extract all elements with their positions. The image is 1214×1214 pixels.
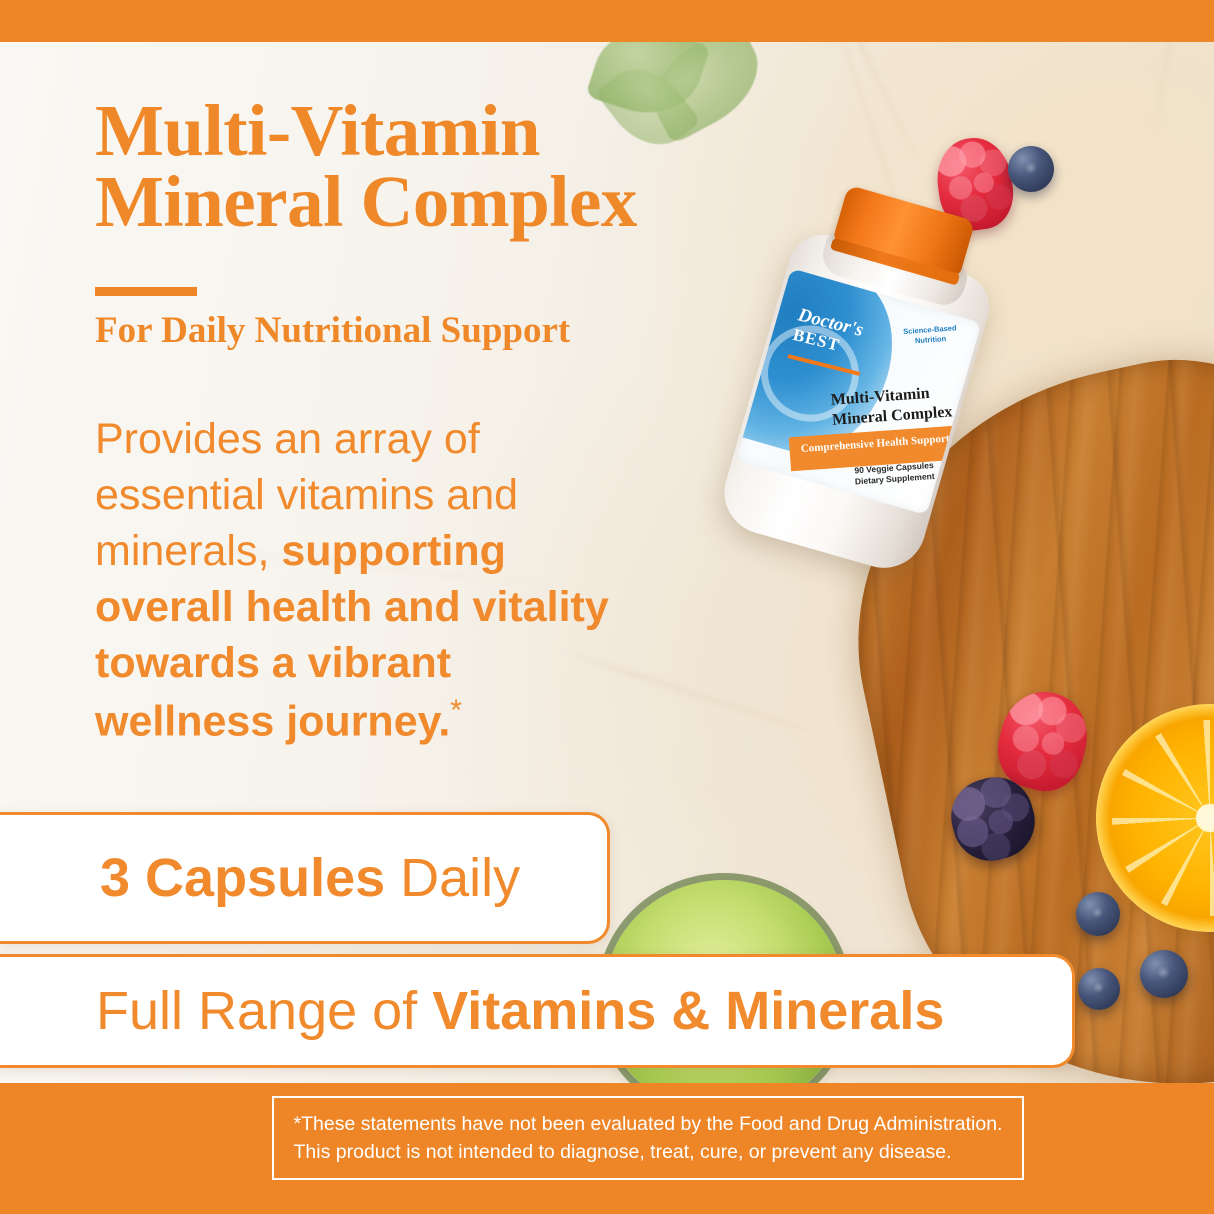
footnote-marker: * [450, 694, 462, 727]
callout-range-bold: Vitamins & Minerals [432, 981, 944, 1041]
callout-card-range-text: Full Range of Vitamins & Minerals [96, 980, 944, 1042]
callout-card-dosage: 3 Capsules Daily [0, 812, 610, 944]
top-orange-band [0, 0, 1214, 42]
page-title: Multi-Vitamin Mineral Complex [95, 96, 775, 238]
disclaimer-box: *These statements have not been evaluate… [272, 1096, 1024, 1180]
label-count-info: 90 Veggie Capsules Dietary Supplement [848, 460, 941, 489]
callout-dosage-regular: Daily [385, 848, 520, 908]
callout-card-dosage-text: 3 Capsules Daily [100, 847, 520, 909]
disclaimer-line-1: *These statements have not been evaluate… [294, 1110, 1003, 1138]
blueberry [1140, 950, 1188, 998]
headline-line-1: Multi-Vitamin [95, 96, 775, 167]
disclaimer-text: *These statements have not been evaluate… [276, 1110, 1021, 1167]
label-product-name: Multi-Vitamin Mineral Complex [830, 382, 960, 430]
blueberry [1078, 968, 1120, 1010]
disclaimer-line-2: This product is not intended to diagnose… [294, 1138, 1003, 1166]
body-copy: Provides an array of essential vitamins … [95, 412, 635, 751]
callout-dosage-bold: 3 Capsules [100, 848, 385, 908]
subheadline: For Daily Nutritional Support [95, 310, 570, 353]
accent-rule-divider [95, 287, 197, 296]
callout-range-regular: Full Range of [96, 981, 432, 1041]
callout-card-range: Full Range of Vitamins & Minerals [0, 954, 1075, 1068]
blueberry [1076, 892, 1120, 936]
headline-line-2: Mineral Complex [95, 167, 775, 238]
product-marketing-banner: Doctor's BEST Science-Based Nutrition Mu… [0, 0, 1214, 1214]
label-tagline: Science-Based Nutrition [894, 323, 967, 347]
blueberry [1008, 146, 1054, 192]
